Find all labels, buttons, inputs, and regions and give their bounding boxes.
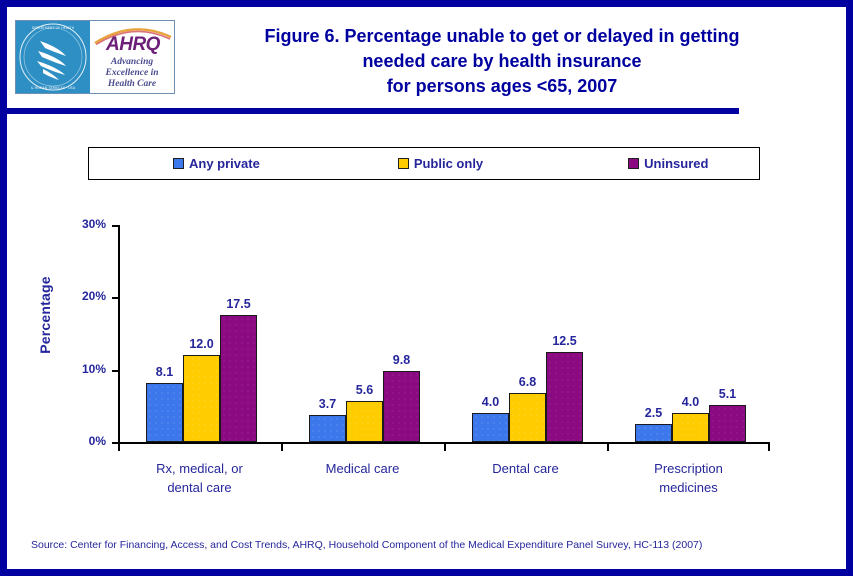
bar-0-2[interactable]	[220, 315, 257, 442]
bar-value-label-2-2: 12.5	[542, 334, 588, 348]
bar-value-label-0-0: 8.1	[142, 365, 188, 379]
y-tick-label-0: 0%	[64, 434, 106, 448]
bar-1-1[interactable]	[346, 401, 383, 442]
bar-1-2[interactable]	[383, 371, 420, 442]
figure-page: DEPARTMENT OF HEALTH & HUMAN SERVICES · …	[0, 0, 853, 576]
bar-3-2[interactable]	[709, 405, 746, 442]
x-category-label-3-line-0: Prescription	[609, 459, 769, 478]
x-category-label-1-line-0: Medical care	[283, 459, 443, 478]
x-axis-start-tick	[118, 444, 120, 451]
bar-1-0[interactable]	[309, 415, 346, 442]
x-category-label-3: Prescriptionmedicines	[609, 459, 769, 497]
y-axis-title: Percentage	[37, 260, 53, 370]
x-category-label-0-line-0: Rx, medical, or	[120, 459, 280, 478]
x-category-label-0: Rx, medical, ordental care	[120, 459, 280, 497]
x-category-label-3-line-1: medicines	[609, 478, 769, 497]
x-tick-separator-3	[607, 444, 609, 451]
bar-0-1[interactable]	[183, 355, 220, 442]
bar-2-1[interactable]	[509, 393, 546, 442]
bar-chart: Percentage 0%10%20%30%8.112.017.5Rx, med…	[7, 7, 846, 569]
x-tick-separator-1	[281, 444, 283, 451]
x-category-label-2: Dental care	[446, 459, 606, 478]
bar-3-0[interactable]	[635, 424, 672, 442]
bar-value-label-1-0: 3.7	[305, 397, 351, 411]
y-tick-label-30: 30%	[64, 217, 106, 231]
y-tick-label-20: 20%	[64, 289, 106, 303]
bar-value-label-1-1: 5.6	[342, 383, 388, 397]
y-tick-30	[112, 225, 118, 227]
x-category-label-0-line-1: dental care	[120, 478, 280, 497]
y-tick-20	[112, 297, 118, 299]
bar-2-0[interactable]	[472, 413, 509, 442]
y-tick-label-10: 10%	[64, 362, 106, 376]
source-note: Source: Center for Financing, Access, an…	[31, 539, 702, 551]
bar-value-label-0-2: 17.5	[216, 297, 262, 311]
x-axis-end-tick	[768, 444, 770, 451]
bar-value-label-0-1: 12.0	[179, 337, 225, 351]
bar-0-0[interactable]	[146, 383, 183, 442]
y-tick-10	[112, 370, 118, 372]
bar-value-label-1-2: 9.8	[379, 353, 425, 367]
x-category-label-2-line-0: Dental care	[446, 459, 606, 478]
bar-value-label-2-0: 4.0	[468, 395, 514, 409]
y-axis-line	[118, 225, 120, 444]
bar-value-label-2-1: 6.8	[505, 375, 551, 389]
x-tick-separator-2	[444, 444, 446, 451]
x-category-label-1: Medical care	[283, 459, 443, 478]
bar-3-1[interactable]	[672, 413, 709, 442]
bar-2-2[interactable]	[546, 352, 583, 442]
bar-value-label-3-2: 5.1	[705, 387, 751, 401]
